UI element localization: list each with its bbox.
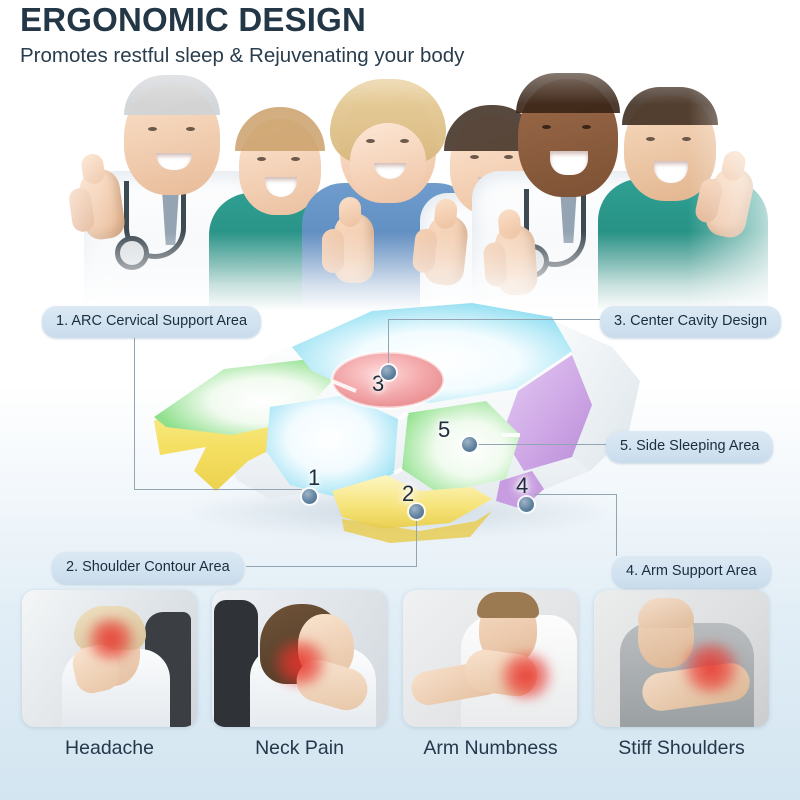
marker-1-dot — [302, 489, 317, 504]
marker-2-number: 2 — [402, 481, 414, 507]
callout-3-connector-h — [388, 319, 601, 320]
pain-caption-arm-numbness: Arm Numbness — [403, 739, 578, 759]
pain-card-arm-numbness[interactable]: Arm Numbness — [403, 590, 578, 759]
pain-caption-neck-pain: Neck Pain — [212, 739, 387, 759]
marker-3-dot — [381, 365, 396, 380]
pain-caption-headache: Headache — [22, 739, 197, 759]
callout-2-connector-h — [246, 566, 417, 567]
pain-indicator-shoulder — [678, 642, 744, 694]
pain-photo-headache — [22, 590, 197, 727]
marker-2-dot — [409, 504, 424, 519]
callout-1-connector-v — [134, 330, 135, 490]
callout-4-connector-v — [616, 494, 617, 556]
pain-photo-neck-pain — [212, 590, 387, 727]
marker-4-number: 4 — [516, 473, 528, 499]
callout-3-connector-v — [388, 319, 389, 367]
page-header: ERGONOMIC DESIGN Promotes restful sleep … — [20, 2, 464, 68]
pain-indicator-arm — [495, 652, 557, 700]
hair — [477, 592, 539, 618]
pain-caption-stiff-shoulders: Stiff Shoulders — [594, 739, 769, 759]
pain-card-neck-pain[interactable]: Neck Pain — [212, 590, 387, 759]
marker-5-number: 5 — [438, 417, 450, 443]
person-nurse-male-teal — [598, 79, 776, 311]
pain-photo-arm-numbness — [403, 590, 578, 727]
pain-card-stiff-shoulders[interactable]: Stiff Shoulders — [594, 590, 769, 759]
callout-3-label[interactable]: 3. Center Cavity Design — [600, 306, 781, 338]
marker-4-dot — [519, 497, 534, 512]
callout-5-connector-h — [470, 444, 608, 445]
pain-indicator-head — [82, 618, 140, 660]
marker-5-dot — [462, 437, 477, 452]
callout-1-label[interactable]: 1. ARC Cervical Support Area — [42, 306, 261, 338]
callout-5-label[interactable]: 5. Side Sleeping Area — [606, 431, 773, 463]
thumbs-up-hand — [422, 213, 469, 287]
pain-photo-stiff-shoulders — [594, 590, 769, 727]
pain-indicator-neck — [268, 640, 332, 686]
page-title: ERGONOMIC DESIGN — [20, 2, 464, 39]
pain-card-headache[interactable]: Headache — [22, 590, 197, 759]
medical-team-photo — [0, 46, 800, 311]
thumbs-up-hand — [334, 213, 374, 283]
marker-1-number: 1 — [308, 465, 320, 491]
page-subtitle: Promotes restful sleep & Rejuvenating yo… — [20, 44, 464, 68]
bald-scalp — [638, 598, 694, 628]
pain-points-row: Headache Neck Pain Arm Numbness — [0, 590, 800, 800]
callout-2-label[interactable]: 2. Shoulder Contour Area — [52, 552, 244, 584]
callout-1-connector-h — [134, 489, 302, 490]
callout-4-connector-h — [534, 494, 617, 495]
callout-4-label[interactable]: 4. Arm Support Area — [612, 556, 771, 588]
